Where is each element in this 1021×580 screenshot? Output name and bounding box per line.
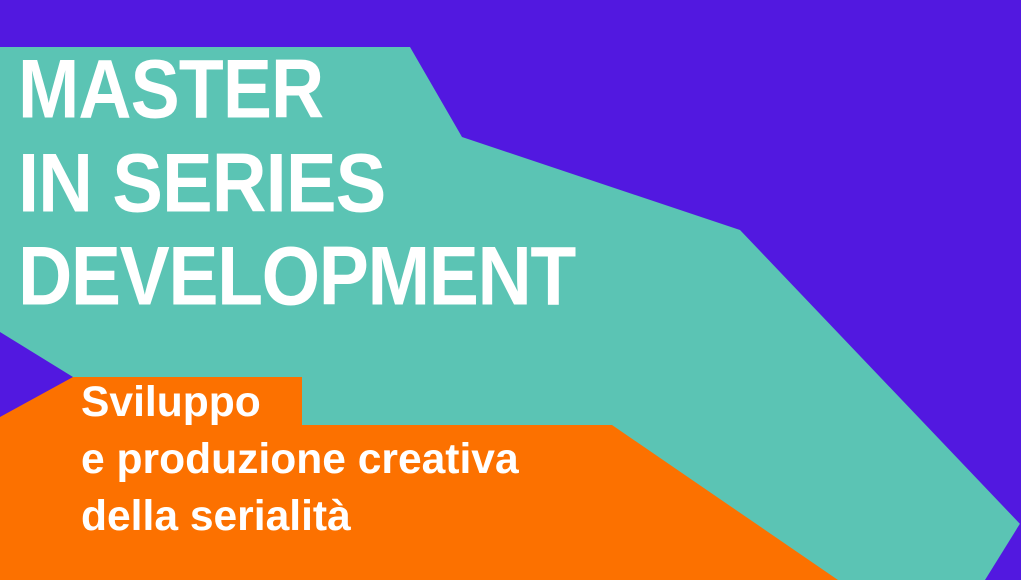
headline-line-2: IN SERIES: [18, 142, 385, 225]
subtitle-line-1: Sviluppo: [81, 381, 261, 424]
text-layer: MASTER IN SERIES DEVELOPMENT Sviluppo e …: [0, 0, 1021, 580]
headline-line-1: MASTER: [18, 48, 323, 131]
subtitle-line-2: e produzione creativa: [81, 438, 519, 481]
subtitle-line-3: della serialità: [81, 495, 351, 538]
headline-line-3: DEVELOPMENT: [18, 235, 575, 318]
poster-canvas: MASTER IN SERIES DEVELOPMENT Sviluppo e …: [0, 0, 1021, 580]
